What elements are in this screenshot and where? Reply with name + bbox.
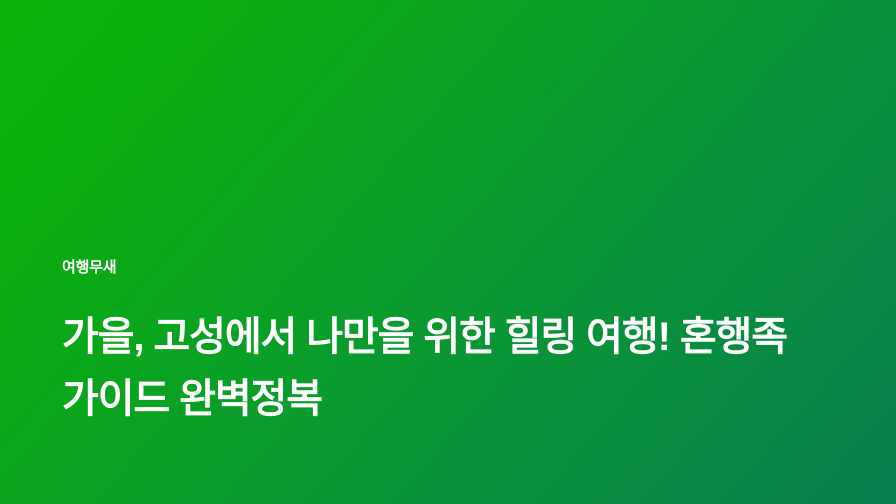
blog-name-label: 여행무새 [62, 258, 846, 278]
hero-text-block: 여행무새 가을, 고성에서 나만을 위한 힐링 여행! 혼행족 가이드 완벽정복 [62, 258, 846, 430]
hero-headline: 가을, 고성에서 나만을 위한 힐링 여행! 혼행족 가이드 완벽정복 [62, 306, 840, 430]
hero-banner: 여행무새 가을, 고성에서 나만을 위한 힐링 여행! 혼행족 가이드 완벽정복 [0, 0, 896, 504]
